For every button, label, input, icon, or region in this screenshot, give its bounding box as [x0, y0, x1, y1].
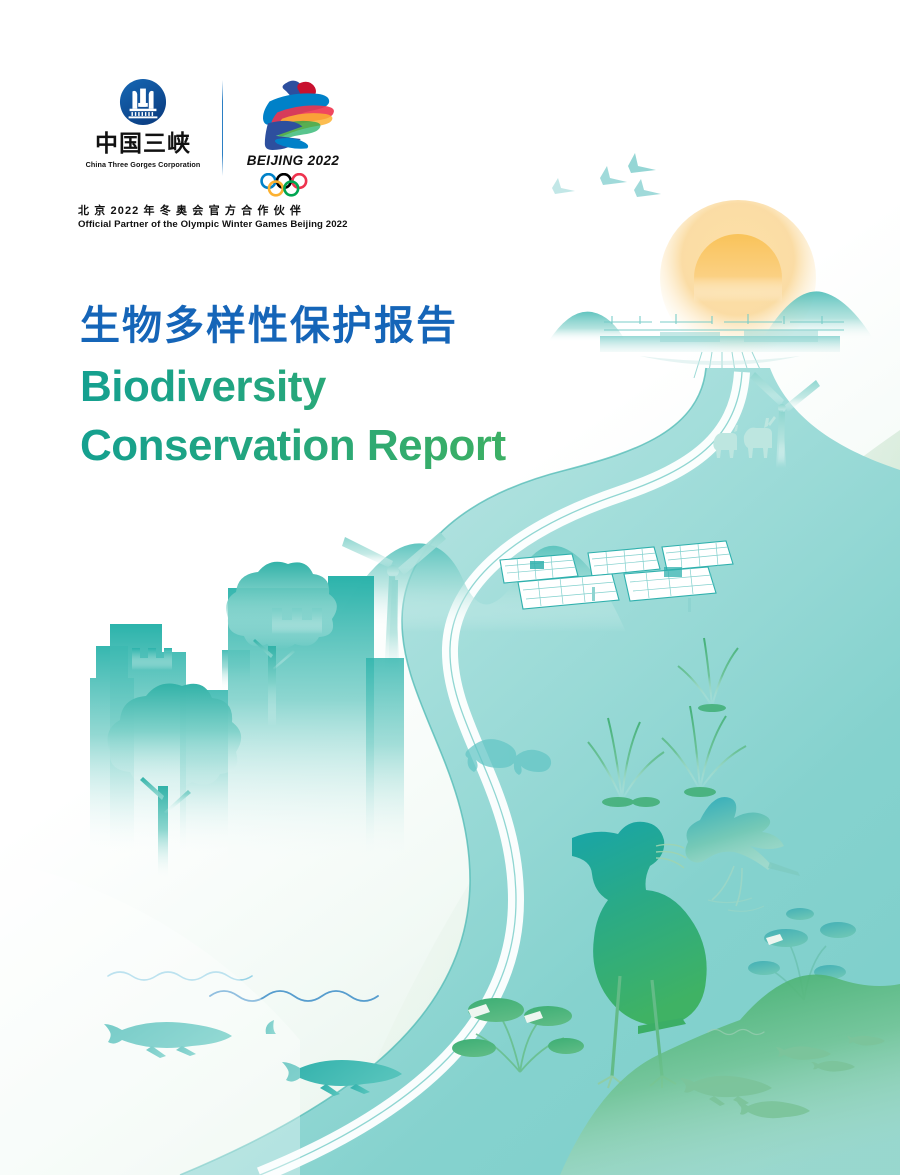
ctg-name-en: China Three Gorges Corporation: [86, 159, 201, 170]
page-title-cn: 生物多样性保护报告: [80, 300, 600, 352]
page-title-en-line1: Biodiversity: [80, 362, 326, 411]
ctg-name-cn: 中国三峡: [95, 130, 191, 156]
report-cover-page: 中国三峡 China Three Gorges Corporation BEIJ…: [0, 0, 900, 1175]
page-title-en: Biodiversity Conservation Report: [80, 358, 600, 475]
beijing-2022-wordmark: BEIJING 2022: [247, 152, 340, 170]
logo-divider: [222, 80, 223, 176]
page-title-en-line2: Conservation Report: [80, 417, 600, 476]
olympic-rings-icon: [254, 173, 332, 197]
ctg-dam-mark-icon: [119, 78, 167, 126]
ctg-logo: 中国三峡 China Three Gorges Corporation: [78, 78, 208, 170]
beijing-2022-logo: BEIJING 2022: [237, 78, 349, 197]
beijing-2022-emblem-icon: [245, 78, 341, 150]
partner-text: 北 京 2022 年 冬 奥 会 官 方 合 作 伙 伴 Official Pa…: [78, 202, 378, 231]
title-group: 生物多样性保护报告 Biodiversity Conservation Repo…: [80, 300, 600, 475]
partner-text-en: Official Partner of the Olympic Winter G…: [78, 219, 378, 231]
partner-text-cn: 北 京 2022 年 冬 奥 会 官 方 合 作 伙 伴: [78, 202, 378, 216]
